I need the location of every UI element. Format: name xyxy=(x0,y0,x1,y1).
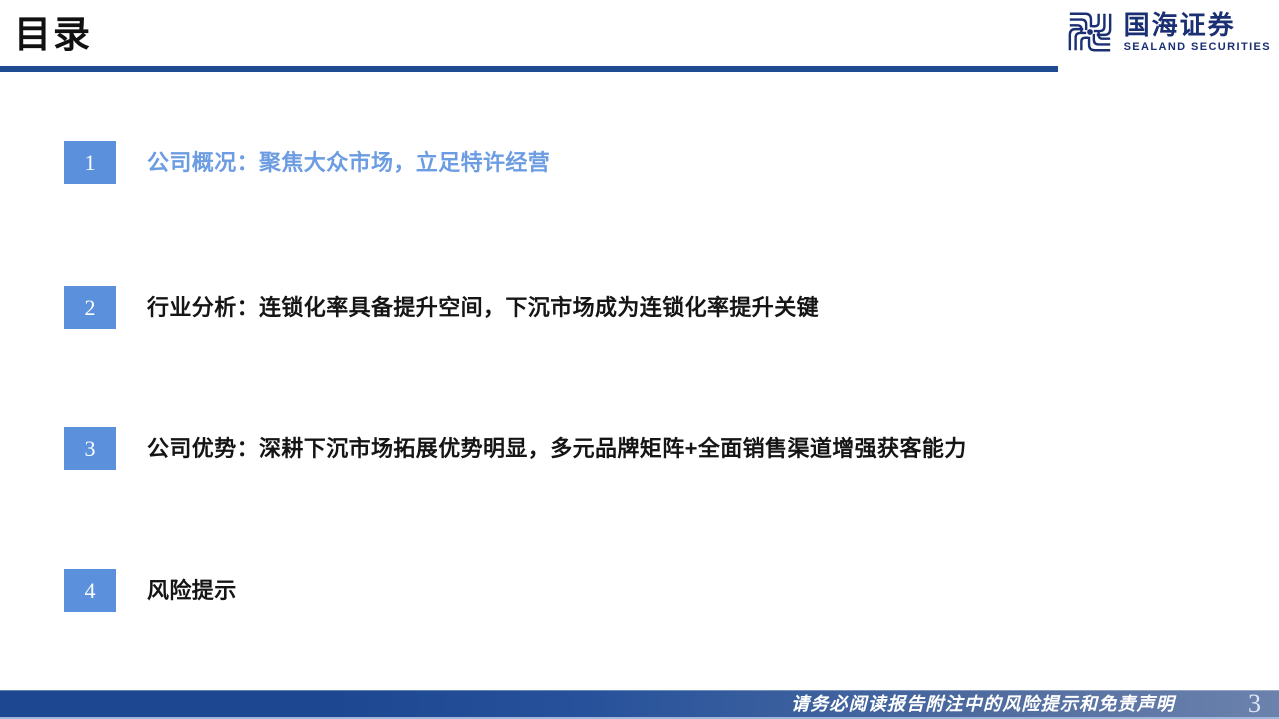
footer-disclaimer: 请务必阅读报告附注中的风险提示和免责声明 xyxy=(791,690,1175,719)
page-title: 目录 xyxy=(14,13,92,57)
toc-item-2-label: 行业分析：连锁化率具备提升空间，下沉市场成为连锁化率提升关键 xyxy=(147,286,819,329)
brand-logo: 国海证券 SEALAND SECURITIES xyxy=(1066,8,1271,56)
slide-footer: 请务必阅读报告附注中的风险提示和免责声明 3 xyxy=(0,690,1279,719)
brand-name-en: SEALAND SECURITIES xyxy=(1124,40,1271,54)
toc-item-4-label: 风险提示 xyxy=(147,569,237,612)
toc-item-3-number-badge: 3 xyxy=(64,427,116,470)
toc-item-4-number-badge: 4 xyxy=(64,569,116,612)
toc-item-3[interactable]: 3 公司优势：深耕下沉市场拓展优势明显，多元品牌矩阵+全面销售渠道增强获客能力 xyxy=(64,426,967,470)
toc-item-2[interactable]: 2 行业分析：连锁化率具备提升空间，下沉市场成为连锁化率提升关键 xyxy=(64,285,819,329)
toc-item-3-label: 公司优势：深耕下沉市场拓展优势明显，多元品牌矩阵+全面销售渠道增强获客能力 xyxy=(147,427,967,470)
sealand-wave-emblem-icon xyxy=(1066,8,1114,56)
table-of-contents: 1 公司概况：聚焦大众市场，立足特许经营 2 行业分析：连锁化率具备提升空间，下… xyxy=(0,72,1279,682)
toc-item-1[interactable]: 1 公司概况：聚焦大众市场，立足特许经营 xyxy=(64,140,550,184)
toc-item-1-label: 公司概况：聚焦大众市场，立足特许经营 xyxy=(147,141,550,184)
brand-logo-text: 国海证券 SEALAND SECURITIES xyxy=(1124,11,1271,54)
toc-item-1-number-badge: 1 xyxy=(64,141,116,184)
slide-header: 目录 xyxy=(0,0,1279,72)
brand-name-cn: 国海证券 xyxy=(1124,11,1271,40)
toc-item-4[interactable]: 4 风险提示 xyxy=(64,568,237,612)
toc-item-2-number-badge: 2 xyxy=(64,286,116,329)
footer-page-number: 3 xyxy=(1248,690,1261,719)
